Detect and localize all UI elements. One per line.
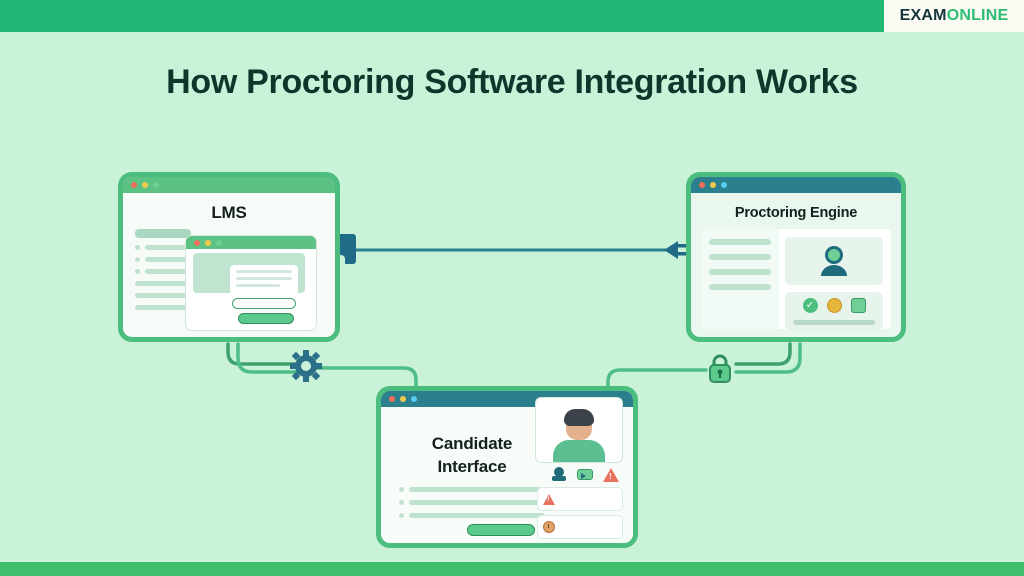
card-text-line (236, 270, 292, 273)
submit-button[interactable] (467, 524, 535, 536)
alert-row (537, 515, 623, 539)
sidebar-text-bar (709, 239, 771, 245)
primary-button[interactable] (238, 313, 294, 324)
green-badge-icon (851, 298, 866, 313)
question-line (399, 487, 545, 492)
secondary-button[interactable] (232, 298, 296, 309)
video-icon[interactable] (577, 467, 593, 482)
traffic-light-red-icon (131, 182, 137, 188)
avatar-body (553, 440, 605, 462)
traffic-light-yellow-icon (142, 182, 148, 188)
sidebar-text-bar (135, 305, 191, 310)
lms-inner-titlebar (186, 236, 316, 249)
candidate-avatar-panel (785, 237, 883, 285)
traffic-light-red-icon (389, 396, 395, 402)
traffic-light-blue-icon (411, 396, 417, 402)
proctoring-engine-main: ✓ (779, 229, 891, 329)
sidebar-text-bar (709, 269, 771, 275)
bullet-icon (135, 269, 140, 274)
traffic-light-yellow-icon (710, 182, 716, 188)
traffic-light-yellow-icon (205, 240, 211, 246)
avatar-hair (564, 409, 594, 426)
question-bar (409, 500, 545, 505)
candidate-title: Candidate Interface (397, 433, 547, 479)
monitoring-toolbar (551, 467, 619, 482)
candidate-title-line1: Candidate (397, 433, 547, 456)
avatar (817, 244, 851, 278)
proctoring-engine-window[interactable]: Proctoring Engine ✓ (686, 172, 906, 342)
lms-titlebar (123, 177, 335, 193)
proctoring-engine-title: Proctoring Engine (691, 205, 901, 221)
traffic-light-red-icon (194, 240, 200, 246)
card-text-line (236, 277, 292, 280)
bottom-brand-bar (0, 562, 1024, 576)
candidate-interface-window[interactable]: Candidate Interface (376, 386, 638, 548)
bullet-icon (135, 245, 140, 250)
bullet-icon (399, 513, 404, 518)
traffic-light-red-icon (699, 182, 705, 188)
lms-inner-body (186, 249, 316, 259)
webcam-icon-base (552, 476, 566, 481)
amber-circle-icon (827, 298, 842, 313)
bullet-icon (135, 257, 140, 262)
traffic-light-yellow-icon (400, 396, 406, 402)
proctoring-engine-body: ✓ (701, 229, 891, 329)
check-circle-icon: ✓ (803, 298, 818, 313)
alert-list (537, 487, 623, 543)
webcam-preview (535, 397, 623, 463)
question-line (399, 500, 545, 505)
webcam-icon[interactable] (551, 467, 567, 482)
lms-inner-window[interactable] (185, 235, 317, 331)
bullet-icon (399, 500, 404, 505)
video-icon-body (577, 469, 593, 480)
sidebar-text-bar (709, 284, 771, 290)
candidate-question-list (399, 487, 545, 526)
sidebar-text-bar (709, 254, 771, 260)
alert-row (537, 487, 623, 511)
warning-triangle-icon (543, 494, 555, 505)
sidebar-header-bar (135, 229, 191, 238)
clock-alert-icon (543, 521, 555, 533)
proctoring-engine-sidebar (701, 229, 779, 329)
card-text-line (236, 284, 280, 287)
warning-triangle-icon (603, 468, 619, 482)
proctoring-engine-titlebar (691, 177, 901, 193)
question-bar (409, 487, 545, 492)
traffic-light-green-icon (153, 182, 159, 188)
status-icon-row: ✓ (793, 298, 875, 313)
question-line (399, 513, 545, 518)
content-card (230, 265, 298, 295)
traffic-light-green-icon (216, 240, 222, 246)
status-progress-bar (793, 320, 875, 325)
bullet-icon (399, 487, 404, 492)
infographic-canvas: EXAMONLINE How Proctoring Software Integ… (0, 0, 1024, 576)
status-panel: ✓ (785, 292, 883, 330)
gear-icon (290, 350, 322, 382)
traffic-light-blue-icon (721, 182, 727, 188)
lms-window[interactable]: LMS (118, 172, 340, 342)
lms-title: LMS (123, 203, 335, 223)
candidate-title-line2: Interface (397, 456, 547, 479)
question-bar (409, 513, 545, 518)
lock-icon (705, 352, 735, 384)
